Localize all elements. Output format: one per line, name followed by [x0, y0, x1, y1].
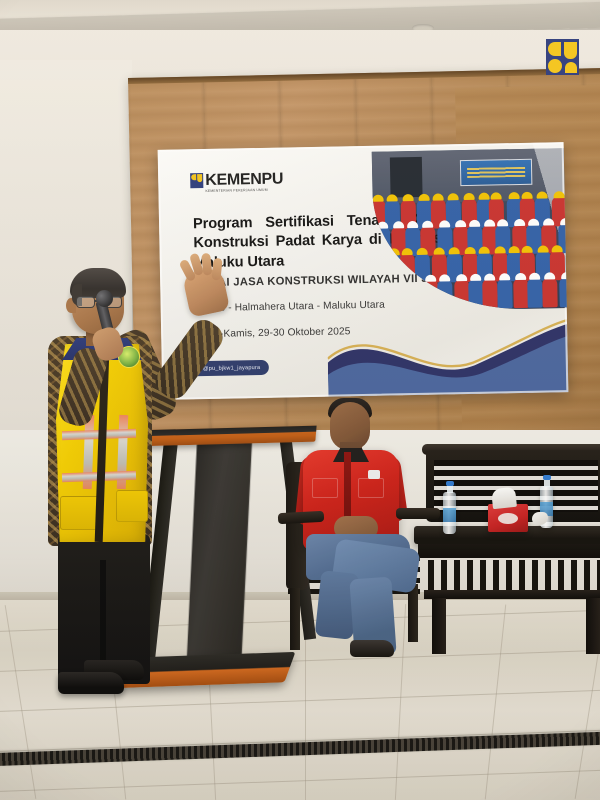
hard-hat-icon — [484, 273, 495, 280]
hard-hat-icon — [449, 247, 460, 254]
podium-body — [187, 439, 252, 662]
vest-pocket — [116, 490, 148, 522]
hard-hat-icon — [387, 194, 398, 201]
wooden-bench — [414, 440, 600, 650]
vest-pocket — [60, 496, 100, 530]
hard-hat-icon — [522, 192, 533, 199]
crowd-person — [378, 280, 394, 310]
hard-hat-icon — [417, 248, 428, 255]
pu-logo — [546, 39, 579, 75]
pu-logo-shape-1 — [548, 42, 561, 56]
hard-hat-icon — [389, 248, 400, 255]
hard-hat-icon — [425, 275, 436, 282]
banner-group-photo — [372, 148, 569, 312]
hard-hat-icon — [380, 275, 391, 282]
seated-man-shirt-logo — [368, 470, 380, 479]
crowd-person — [513, 278, 529, 308]
hard-hat-icon — [497, 219, 508, 226]
hard-hat-icon — [422, 221, 433, 228]
hard-hat-icon — [552, 245, 563, 252]
hard-hat-icon — [465, 247, 476, 254]
crowd-person — [392, 280, 408, 310]
hard-hat-icon — [522, 246, 533, 253]
photo-crowd — [373, 190, 569, 312]
hard-hat-icon — [479, 247, 490, 254]
hard-hat-icon — [509, 192, 520, 199]
crowd-person — [527, 278, 543, 308]
crowd-person — [542, 277, 558, 307]
kemenpu-logo-tagline: KEMENTERIAN PEKERJAAN UMUM — [205, 189, 283, 194]
hard-hat-icon — [439, 220, 450, 227]
bench-lower-slats — [428, 560, 600, 594]
hard-hat-icon — [491, 192, 502, 199]
crowd-person — [482, 278, 498, 308]
event-photo-scene: KEMENPU KEMENTERIAN PEKERJAAN UMUM Progr… — [0, 0, 600, 800]
pu-logo-shape-2 — [564, 42, 577, 59]
banner-wave-graphic — [327, 296, 569, 397]
armchair-right-armrest — [396, 508, 440, 519]
eyeglasses-left-lens — [76, 296, 95, 308]
seated-man-shirt-pocket — [358, 478, 384, 498]
speaker-shoe — [58, 672, 124, 694]
hard-hat-icon — [544, 272, 555, 279]
hard-hat-icon — [434, 247, 445, 254]
hard-hat-icon — [403, 194, 414, 201]
hard-hat-icon — [528, 219, 539, 226]
hard-hat-icon — [402, 248, 413, 255]
hard-hat-icon — [372, 249, 383, 256]
water-bottle — [443, 492, 456, 534]
pu-logo-shape-4 — [565, 62, 577, 73]
hard-hat-icon — [499, 273, 510, 280]
hard-hat-icon — [514, 219, 525, 226]
seated-man-shirt-pocket — [312, 478, 338, 498]
tissue-sheet — [491, 487, 517, 509]
armchair-leg — [290, 588, 300, 650]
hard-hat-icon — [538, 245, 549, 252]
photo-doorway — [390, 157, 423, 198]
hard-hat-icon — [419, 194, 430, 201]
hard-hat-icon — [537, 191, 548, 198]
hard-hat-icon — [484, 219, 495, 226]
hard-hat-icon — [448, 193, 459, 200]
seated-man-shoe — [350, 640, 394, 657]
instagram-handle-text: @pu_bjkw1_jayapura — [203, 364, 261, 371]
hard-hat-icon — [470, 274, 481, 281]
hard-hat-icon — [464, 193, 475, 200]
hard-hat-icon — [407, 221, 418, 228]
bottle-label — [443, 508, 456, 522]
bench-leg — [586, 598, 600, 654]
hard-hat-icon — [409, 275, 420, 282]
hard-hat-icon — [509, 246, 520, 253]
bench-apron — [418, 544, 600, 558]
hard-hat-icon — [373, 195, 384, 202]
hard-hat-icon — [469, 220, 480, 227]
crowd-person — [407, 280, 423, 310]
kemenpu-logo: KEMENPU KEMENTERIAN PEKERJAAN UMUM — [190, 172, 283, 194]
hard-hat-icon — [433, 193, 444, 200]
wave-svg — [327, 296, 569, 397]
hard-hat-icon — [456, 274, 467, 281]
kemenpu-logo-text: KEMENPU — [205, 172, 283, 189]
pu-logo-shape-3 — [548, 59, 562, 73]
bench-stretcher — [424, 590, 600, 599]
hard-hat-icon — [554, 191, 565, 198]
hard-hat-icon — [377, 222, 388, 229]
hard-hat-icon — [495, 246, 506, 253]
hard-hat-icon — [515, 273, 526, 280]
hard-hat-icon — [479, 193, 490, 200]
kemenpu-logo-mark — [190, 173, 203, 188]
photo-stage-banner — [460, 159, 532, 186]
hard-hat-icon — [439, 274, 450, 281]
armchair-leg — [408, 584, 418, 642]
hand-finger — [211, 258, 222, 281]
crowd-person — [437, 279, 453, 309]
crowd-person — [497, 278, 513, 308]
tissue-box-label — [498, 513, 518, 524]
hard-hat-icon — [393, 221, 404, 228]
hard-hat-icon — [455, 220, 466, 227]
bench-leg — [432, 598, 446, 654]
hard-hat-icon — [529, 273, 540, 280]
hard-hat-icon — [394, 275, 405, 282]
hard-hat-icon — [543, 218, 554, 225]
